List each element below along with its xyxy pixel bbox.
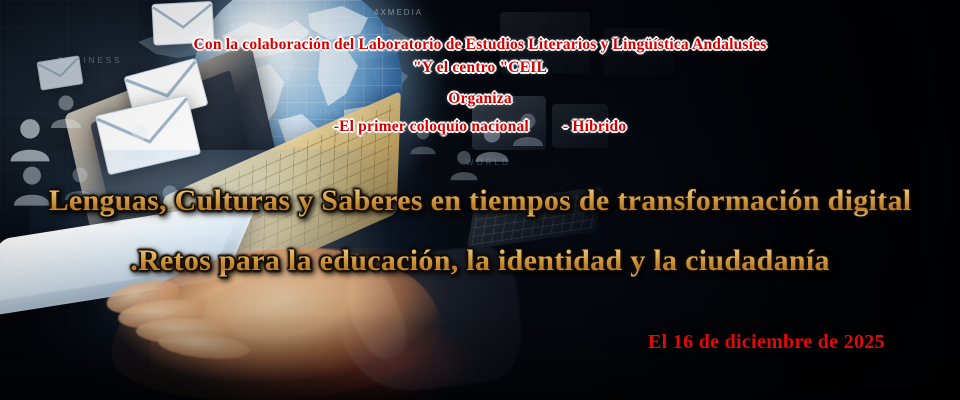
organizer-label: Organiza	[448, 90, 512, 108]
main-title-line-2: .Retos para la educación, la identidad y…	[130, 244, 830, 278]
event-format-line: -El primer coloquio nacional- Híbrido	[334, 118, 627, 136]
collaboration-line: Con la colaboración del Laboratorio de E…	[194, 36, 767, 54]
event-type-left: -El primer coloquio nacional	[334, 118, 529, 135]
event-date: El 16 de diciembre de 2025	[648, 331, 885, 354]
main-title-line-1: Lenguas, Culturas y Saberes en tiempos d…	[49, 184, 912, 218]
conference-poster: Loading Business World Loading 4XMEDIA C…	[0, 0, 960, 400]
event-type-right: - Híbrido	[563, 118, 626, 135]
center-line: "Y el centro "CEIL	[413, 59, 547, 77]
